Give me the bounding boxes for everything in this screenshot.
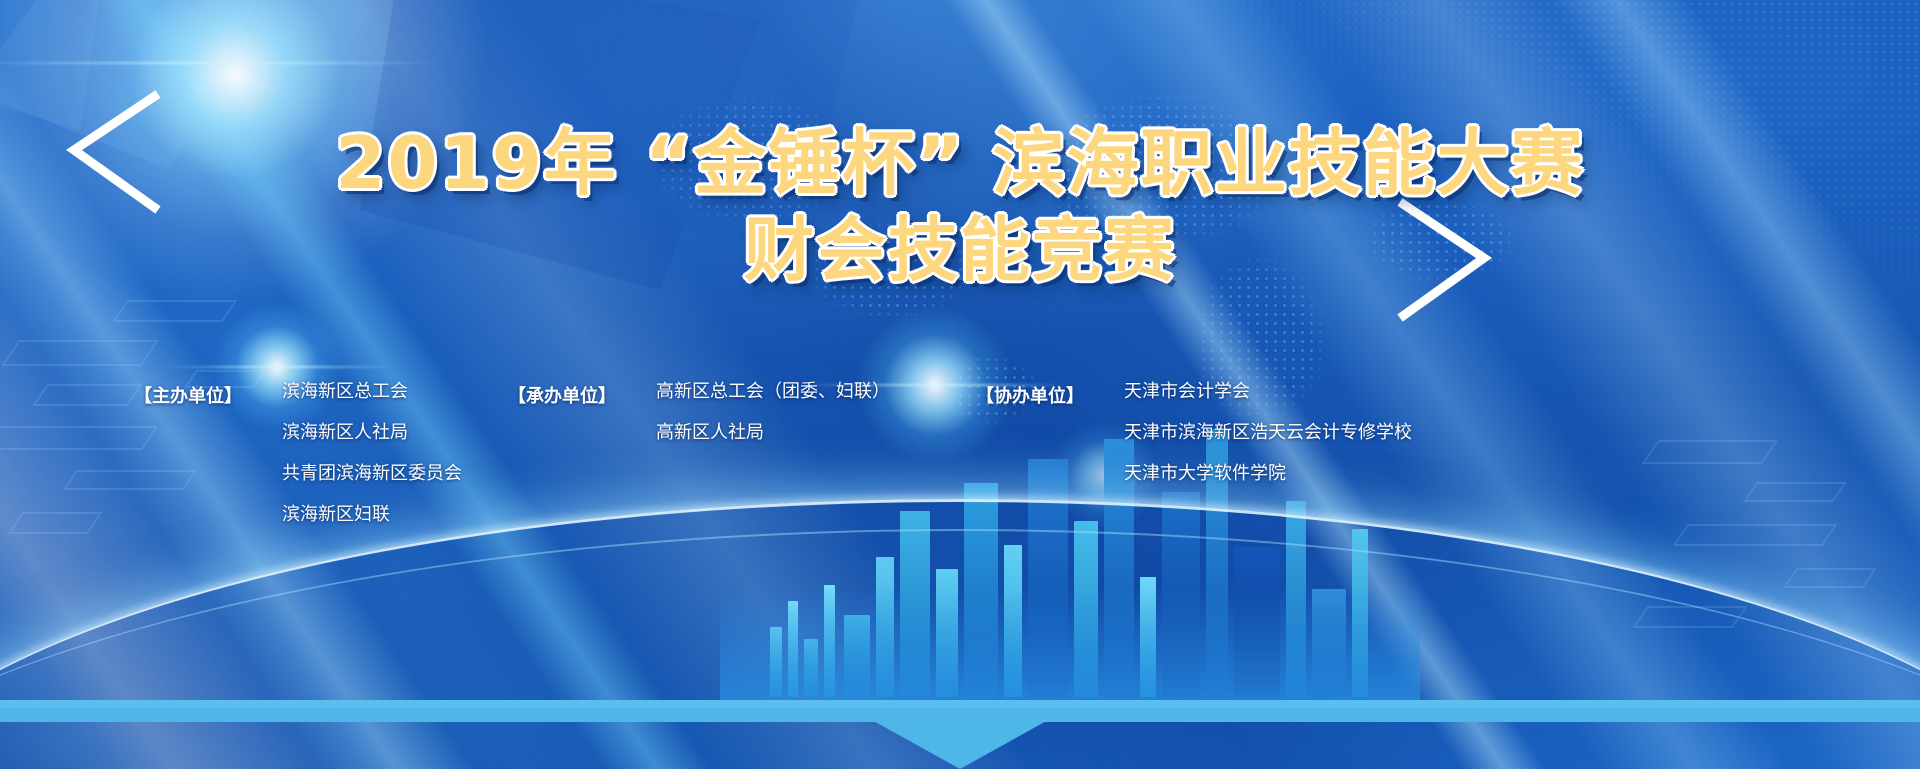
organizer-label: 【主办单位】 (134, 382, 268, 408)
sponsor-column-coorganizer: 【协办单位】 天津市会计学会 天津市滨海新区浩天云会计专修学校 天津市大学软件学… (976, 382, 1412, 497)
coorganizer-unit: 天津市滨海新区浩天云会计专修学校 (1124, 423, 1412, 441)
lens-flare-bar-topleft (0, 62, 440, 64)
undertaker-label: 【承办单位】 (508, 382, 642, 408)
title-line-2: 财会技能竞赛 (0, 213, 1920, 289)
undertaker-unit: 高新区总工会（团委、妇联） (656, 382, 890, 400)
title-line-1: 2019年 “金锤杯” 滨海职业技能大赛 (0, 125, 1920, 203)
undertaker-unit-list: 高新区总工会（团委、妇联） 高新区人社局 (656, 382, 890, 441)
coorganizer-unit-list: 天津市会计学会 天津市滨海新区浩天云会计专修学校 天津市大学软件学院 (1124, 382, 1412, 482)
organizer-unit: 共青团滨海新区委员会 (282, 464, 462, 482)
organizer-unit: 滨海新区妇联 (282, 505, 462, 523)
organizer-unit: 滨海新区总工会 (282, 382, 462, 400)
lens-flare-bar-mid (165, 366, 395, 368)
sponsor-column-undertaker: 【承办单位】 高新区总工会（团委、妇联） 高新区人社局 (508, 382, 890, 456)
coorganizer-unit: 天津市大学软件学院 (1124, 464, 1412, 482)
down-arrow-icon (870, 719, 1050, 769)
banner-title: 2019年 “金锤杯” 滨海职业技能大赛 财会技能竞赛 (0, 125, 1920, 288)
organizer-unit-list: 滨海新区总工会 滨海新区人社局 共青团滨海新区委员会 滨海新区妇联 (282, 382, 462, 523)
undertaker-unit: 高新区人社局 (656, 423, 890, 441)
coorganizer-label: 【协办单位】 (976, 382, 1110, 408)
organizer-unit: 滨海新区人社局 (282, 423, 462, 441)
coorganizer-unit: 天津市会计学会 (1124, 382, 1412, 400)
sponsor-section: 【主办单位】 滨海新区总工会 滨海新区人社局 共青团滨海新区委员会 滨海新区妇联… (0, 382, 1920, 542)
competition-banner: 2019年 “金锤杯” 滨海职业技能大赛 财会技能竞赛 【主办单位】 (0, 0, 1920, 769)
sponsor-column-organizer: 【主办单位】 滨海新区总工会 滨海新区人社局 共青团滨海新区委员会 滨海新区妇联 (134, 382, 462, 538)
